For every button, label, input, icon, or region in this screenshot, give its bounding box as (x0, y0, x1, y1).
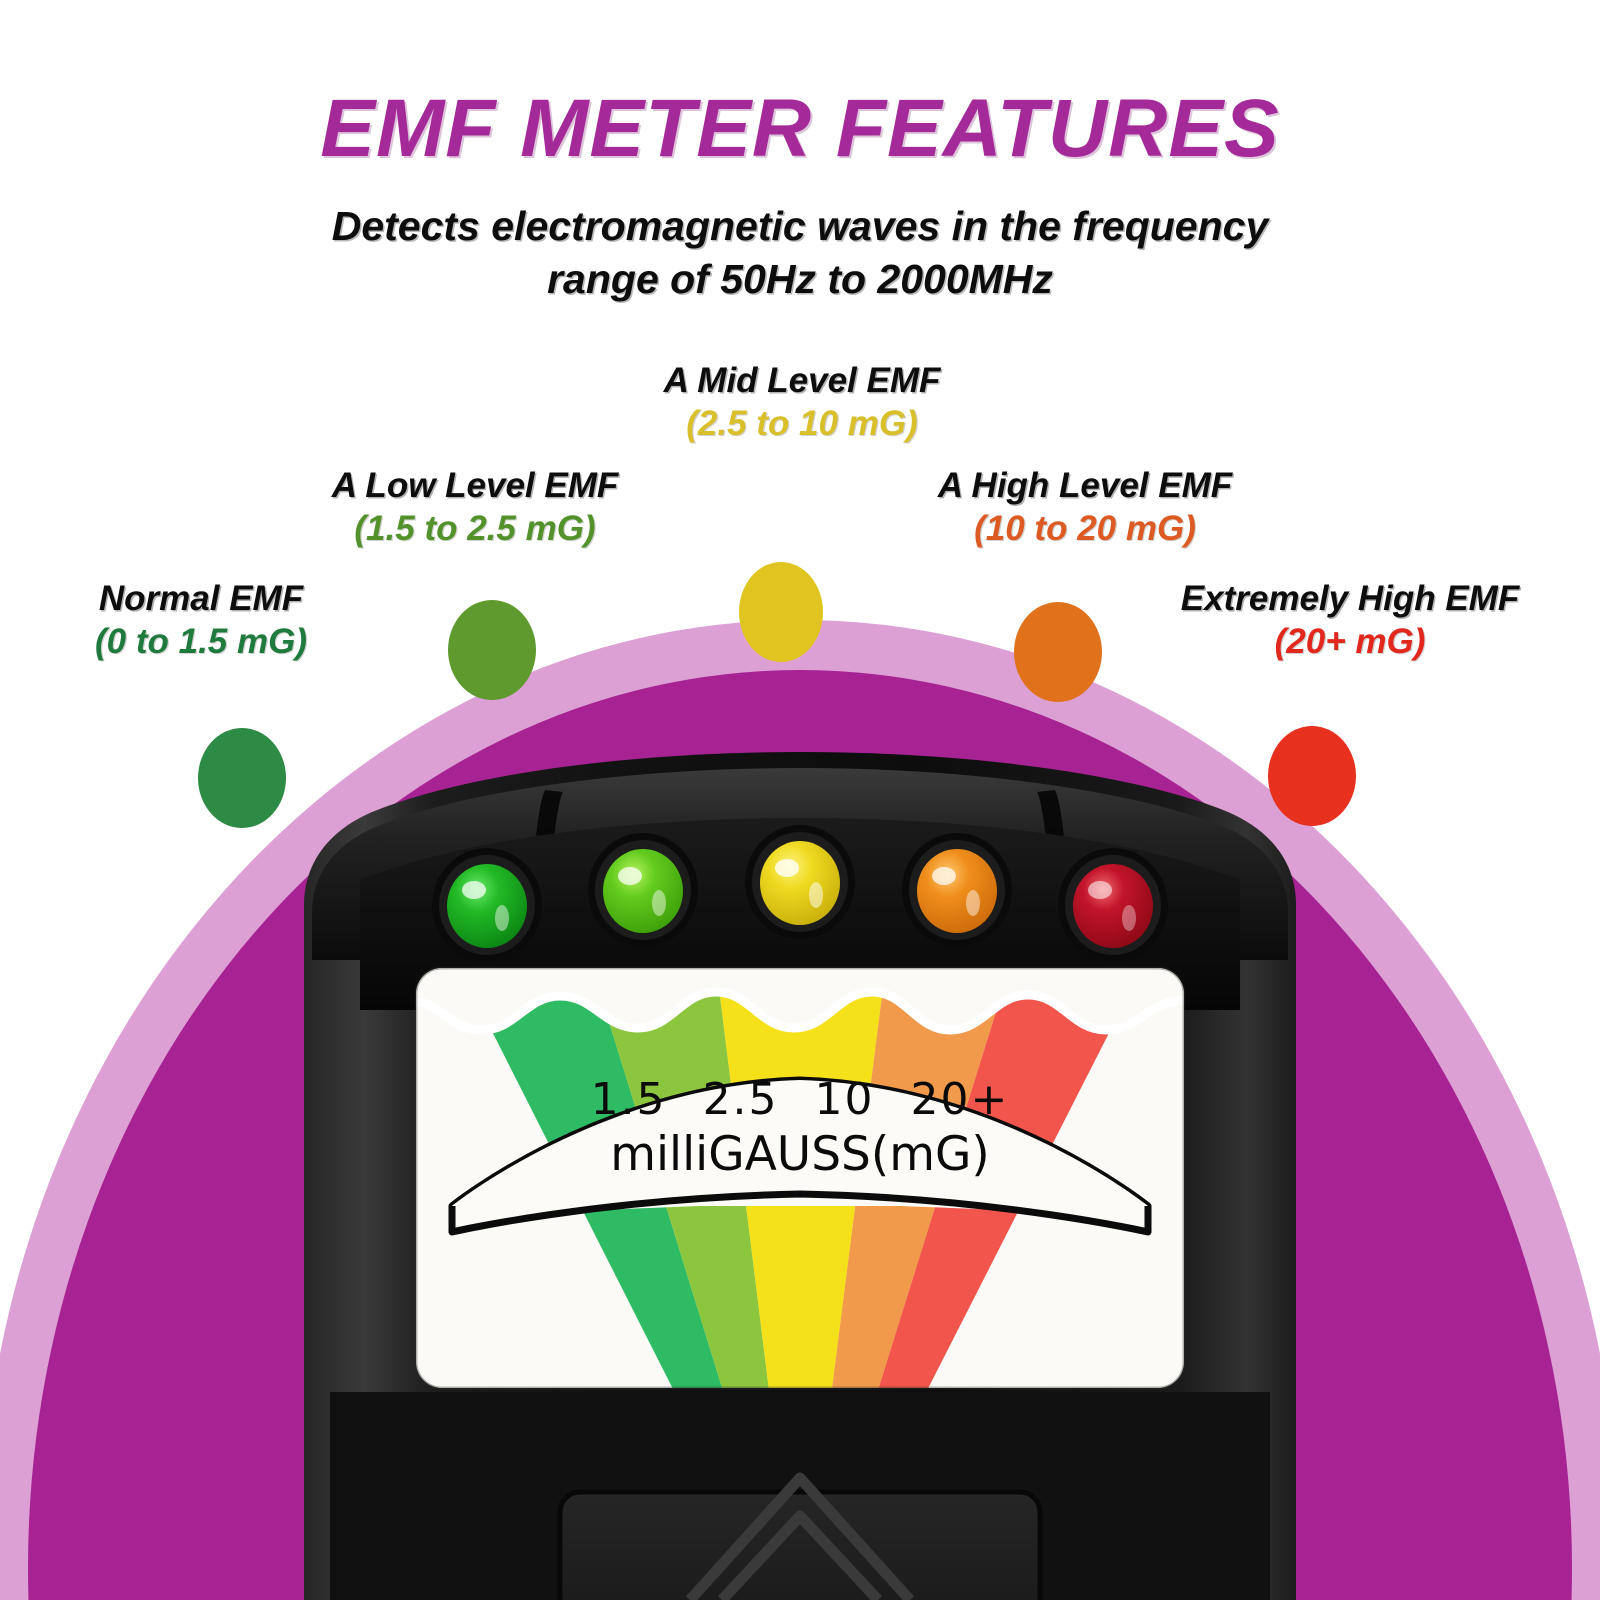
page-subtitle: Detects electromagnetic waves in the fre… (0, 200, 1600, 307)
callout-low-title: A Low Level EMF (300, 465, 650, 508)
callout-dot-mid (739, 562, 823, 662)
led-yellow-highlight-2 (809, 882, 823, 908)
callout-normal-range: (0 to 1.5 mG) (56, 621, 346, 664)
header: EMF METER FEATURES Detects electromagnet… (0, 0, 1600, 307)
led-orange (917, 849, 997, 933)
callout-dot-normal (198, 728, 286, 828)
callout-extreme-title: Extremely High EMF (1150, 578, 1550, 621)
callout-dot-extreme (1268, 726, 1356, 826)
led-orange-highlight (932, 867, 956, 885)
callout-dot-low (448, 600, 536, 700)
callout-extreme-range: (20+ mG) (1150, 621, 1550, 664)
led-green (447, 864, 527, 948)
callout-normal: Normal EMF (0 to 1.5 mG) (56, 578, 346, 663)
led-red-highlight-2 (1122, 905, 1136, 931)
led-light-green (603, 849, 683, 933)
led-yellow-highlight (775, 859, 799, 877)
led-lime-highlight (618, 867, 642, 885)
callout-mid: A Mid Level EMF (2.5 to 10 mG) (628, 360, 976, 445)
callout-mid-range: (2.5 to 10 mG) (628, 403, 976, 446)
callout-low: A Low Level EMF (1.5 to 2.5 mG) (300, 465, 650, 550)
page-title: EMF METER FEATURES (0, 88, 1600, 170)
led-red (1073, 864, 1153, 948)
led-lime-highlight-2 (652, 890, 666, 916)
callout-low-range: (1.5 to 2.5 mG) (300, 508, 650, 551)
led-yellow (760, 841, 840, 925)
callout-high: A High Level EMF (10 to 20 mG) (905, 465, 1265, 550)
led-green-highlight-2 (495, 905, 509, 931)
callout-high-range: (10 to 20 mG) (905, 508, 1265, 551)
callout-mid-title: A Mid Level EMF (628, 360, 976, 403)
subtitle-line-2: range of 50Hz to 2000MHz (0, 253, 1600, 306)
led-orange-highlight-2 (966, 890, 980, 916)
subtitle-line-1: Detects electromagnetic waves in the fre… (0, 200, 1600, 253)
callout-normal-title: Normal EMF (56, 578, 346, 621)
led-red-highlight (1088, 881, 1112, 899)
callout-high-title: A High Level EMF (905, 465, 1265, 508)
chevron-button-panel (560, 1492, 1040, 1600)
callout-extreme: Extremely High EMF (20+ mG) (1150, 578, 1550, 663)
callout-dot-high (1014, 602, 1102, 702)
led-green-highlight (462, 881, 486, 899)
